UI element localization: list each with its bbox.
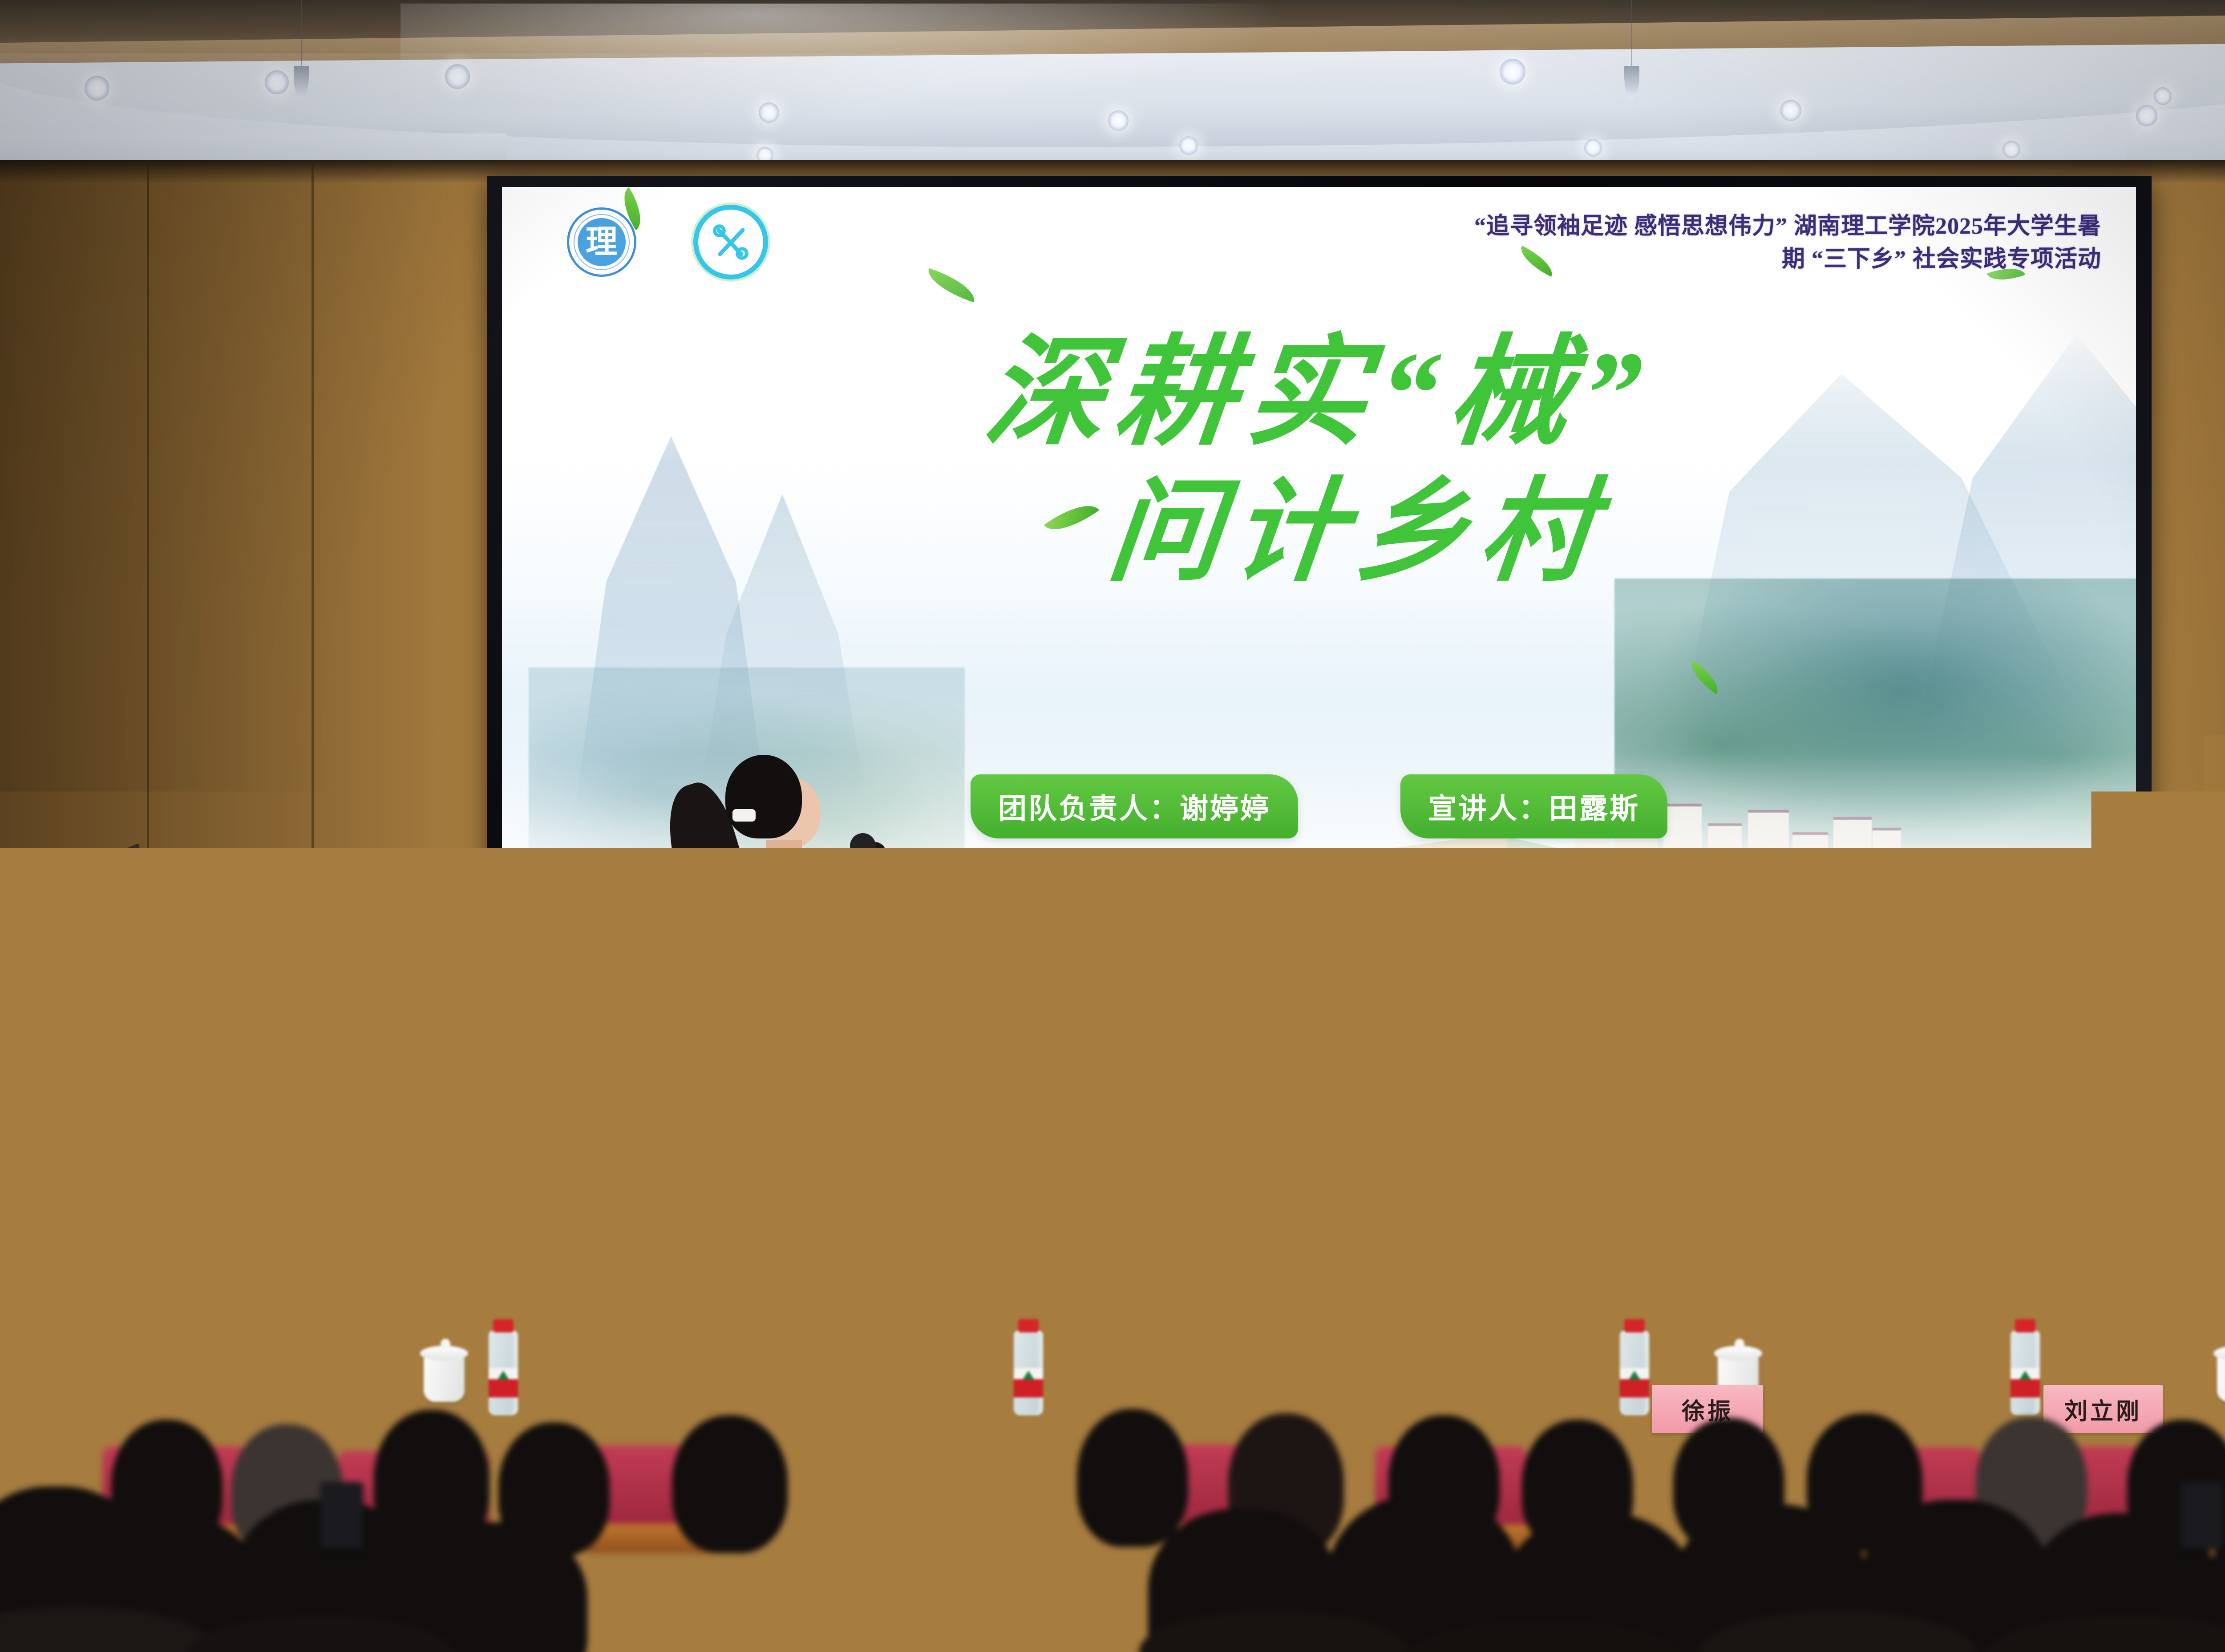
podium-microphone-icon — [48, 848, 77, 861]
slide-title-line-1: 深耕实“械” — [502, 334, 2136, 453]
slide-header: “追寻领袖足迹 感悟思想伟力” 湖南理工学院2025年大学生暑 期 “三下乡” … — [1474, 210, 2101, 276]
mechanical-tools-emblem-icon — [693, 205, 768, 279]
presenter-shoe-front — [781, 1280, 845, 1301]
teacup-knob — [441, 1339, 450, 1349]
bottle-label — [489, 1368, 518, 1397]
ceiling-downlight — [1584, 139, 1602, 157]
presenter-hair — [725, 755, 802, 838]
slide-title-line-2: 问计乡村 — [502, 476, 2136, 588]
ceiling-downlight — [2002, 141, 2020, 158]
brand-mark — [1629, 1371, 1640, 1380]
name-placard: 刘立刚 — [2043, 1385, 2163, 1433]
wall-power-socket[interactable] — [263, 1081, 303, 1134]
ceiling-downlight — [85, 76, 109, 101]
podium-university-emblem: 理 — [6, 1068, 135, 1197]
audience-photographer — [765, 1304, 1095, 1651]
presenter-hair-tie — [732, 809, 756, 822]
water-bottle — [2011, 1331, 2040, 1415]
presenter-jeans — [715, 1057, 862, 1289]
slide-header-line-2: 期 “三下乡” 社会实践专项活动 — [1474, 243, 2101, 276]
bottle-cap — [2015, 1319, 2035, 1332]
water-bottle — [1620, 1331, 1649, 1415]
bottle-cap — [1624, 1319, 1645, 1332]
presenter — [654, 752, 939, 1313]
speaker-badge: 宣讲人：田露斯 — [1400, 774, 1667, 838]
emblem-ring — [17, 1079, 125, 1186]
ceiling-downlight — [1108, 110, 1129, 131]
pendant-wire — [301, 0, 302, 67]
lidded-teacup — [424, 1356, 465, 1402]
slide-title: 深耕实“械” 问计乡村 — [502, 334, 2136, 588]
auditorium-photo: 理 “追寻领袖足迹 感悟思想伟力” 湖南理工学院2025年大学生暑 期 “三下乡… — [0, 0, 2225, 1652]
ceiling-downlight — [2154, 87, 2172, 105]
brand-mark — [498, 1371, 509, 1380]
presenter-hand-holding-mic — [838, 857, 866, 890]
pendant-wire — [1631, 0, 1632, 67]
ceiling-light-sweep — [400, 4, 1290, 115]
team-leader-badge: 团队负责人：谢婷婷 — [971, 774, 1298, 838]
ceiling-downlight — [1179, 136, 1198, 155]
presenter-hand-gesture — [909, 880, 943, 910]
brand-mark — [2019, 1371, 2031, 1380]
lidded-teacup — [2217, 1356, 2225, 1402]
seal-ring — [574, 214, 630, 270]
ceiling-downlight — [759, 102, 779, 123]
bottle-cap — [493, 1319, 514, 1332]
ceiling-downlight — [265, 70, 289, 94]
audience-phone — [2180, 1482, 2223, 1549]
ceiling-downlight — [1780, 100, 1801, 121]
audience-phone — [320, 1482, 363, 1549]
ceiling-downlight — [2136, 105, 2157, 126]
university-seal-logo: 理 — [567, 207, 636, 277]
ceiling-downlight — [445, 64, 470, 89]
wall-shadow-right — [2158, 160, 2225, 1317]
photographer-shoulders — [756, 1553, 1041, 1652]
stage-floor-edge — [0, 1285, 2225, 1288]
presenter-leg-front — [774, 1055, 870, 1291]
bottle-label — [2011, 1368, 2040, 1397]
slide-header-line-1: “追寻领袖足迹 感悟思想伟力” 湖南理工学院2025年大学生暑 — [1474, 210, 2101, 243]
water-bottle — [489, 1331, 518, 1415]
bottle-label — [1620, 1368, 1649, 1397]
ceiling-downlight — [1500, 59, 1525, 85]
teacup-knob — [1735, 1339, 1744, 1349]
